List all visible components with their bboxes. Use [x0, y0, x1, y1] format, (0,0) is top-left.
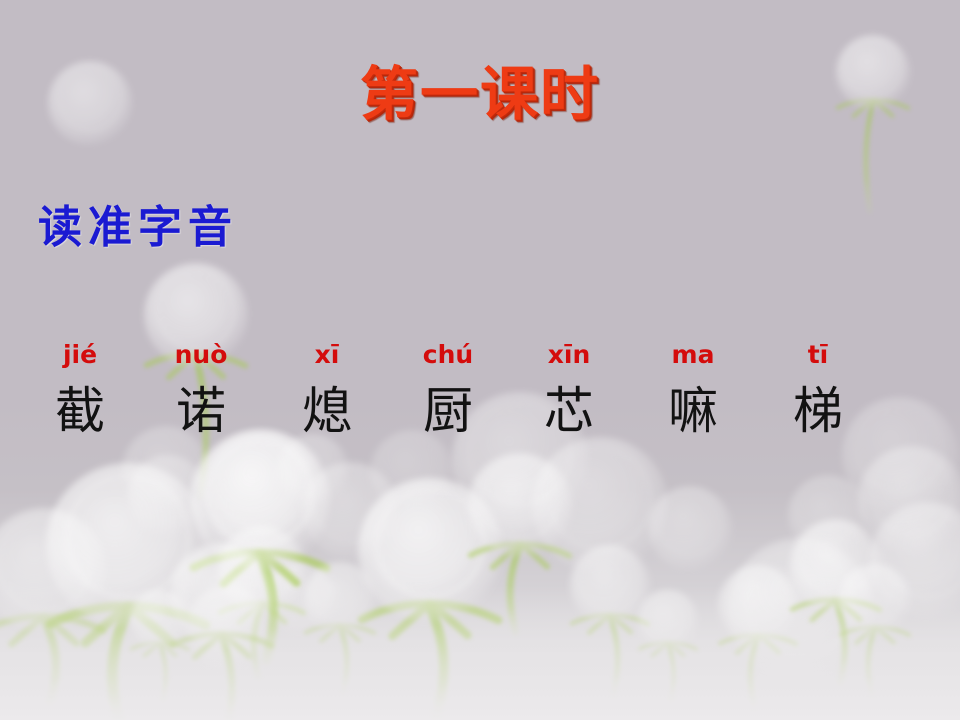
dandelion-stem	[792, 599, 879, 684]
title-block: 第一课时	[0, 62, 960, 127]
dandelion-puff	[858, 446, 960, 554]
puff-inner-ring	[138, 461, 197, 520]
puff-inner-ring	[67, 476, 188, 597]
puff-head	[186, 586, 270, 670]
dandelion-stem	[471, 543, 570, 632]
dandelion-puff	[304, 562, 376, 693]
puff-head	[870, 502, 960, 618]
hanzi-character: 截	[26, 384, 134, 438]
puff-inner-ring	[229, 533, 294, 598]
vocabulary-item: jié截	[26, 342, 134, 438]
dandelion-puff	[264, 562, 336, 634]
dandelion-puff	[186, 586, 270, 670]
puff-inner-ring	[482, 461, 559, 538]
puff-inner-ring	[273, 568, 326, 621]
puff-inner-ring	[659, 493, 721, 555]
puff-head	[728, 538, 872, 682]
dandelion-puff	[128, 455, 208, 535]
vocabulary-item: xī熄	[268, 342, 386, 438]
puff-inner-ring	[138, 595, 182, 639]
puff-head	[304, 562, 376, 634]
dandelion-stem	[841, 627, 909, 695]
puff-head	[190, 430, 330, 570]
vocabulary-item: ma嘛	[628, 342, 758, 438]
puff-inner-ring	[550, 448, 651, 549]
dandelion-stem	[572, 615, 648, 695]
pinyin-label: ma	[628, 342, 758, 368]
dandelion-puff	[190, 430, 330, 661]
puff-inner-ring	[798, 481, 857, 540]
vocabulary-row: jié截nuò诺xī熄chú厨xīn芯ma嘛tī梯	[26, 342, 906, 438]
presentation-slide: 第一课时 读准字音 jié截nuò诺xī熄chú厨xīn芯ma嘛tī梯	[0, 0, 960, 720]
puff-inner-ring	[313, 568, 366, 621]
dandelion-stem	[50, 606, 206, 720]
vocabulary-item: xīn芯	[510, 342, 628, 438]
dandelion-puff	[358, 478, 502, 718]
dandelion-puff	[46, 463, 210, 720]
puff-head	[638, 590, 698, 650]
dandelion-stem	[132, 642, 189, 702]
puff-inner-ring	[314, 470, 385, 541]
hanzi-character: 嘛	[628, 384, 758, 438]
puff-inner-ring	[848, 570, 901, 623]
puff-inner-ring	[218, 440, 307, 529]
dandelion-puff	[728, 538, 872, 682]
puff-inner-ring	[0, 518, 90, 610]
vocabulary-item: nuò诺	[134, 342, 268, 438]
dandelion-puff	[870, 502, 960, 618]
dandelion-puff	[218, 526, 306, 677]
dandelion-stem	[306, 625, 374, 693]
dandelion-puff	[570, 545, 650, 695]
puff-inner-ring	[133, 433, 198, 498]
page-title: 第一课时	[360, 62, 600, 127]
dandelion-stem	[173, 633, 272, 720]
puff-inner-ring	[885, 511, 960, 597]
section-heading: 读准字音	[38, 204, 238, 252]
dandelion-puff	[648, 486, 732, 570]
dandelion-puff	[718, 565, 798, 709]
bottom-fade-overlay	[0, 585, 960, 720]
puff-head	[790, 519, 882, 611]
dandelion-puff	[202, 430, 322, 550]
puff-inner-ring	[377, 490, 484, 597]
hanzi-character: 厨	[386, 384, 510, 438]
dandelion-puff	[130, 590, 190, 702]
puff-head	[46, 463, 210, 627]
puff-head	[839, 564, 911, 636]
puff-head	[277, 434, 349, 506]
puff-head	[570, 545, 650, 625]
dandelion-puff	[638, 590, 698, 702]
puff-head	[358, 478, 502, 622]
puff-head	[468, 453, 572, 557]
puff-head	[218, 526, 306, 614]
puff-head	[858, 446, 960, 554]
pinyin-label: xīn	[510, 342, 628, 368]
dandelion-stem	[0, 616, 103, 705]
puff-inner-ring	[872, 455, 952, 535]
dandelion-puff	[532, 437, 668, 573]
dandelion-puff	[790, 519, 882, 684]
puff-head	[128, 455, 208, 535]
puff-head	[202, 430, 322, 550]
dandelion-puff	[170, 543, 274, 720]
puff-inner-ring	[802, 526, 870, 594]
pinyin-label: xī	[268, 342, 386, 368]
dandelion-puff	[468, 453, 572, 633]
puff-inner-ring	[728, 571, 787, 630]
puff-inner-ring	[184, 551, 261, 628]
pinyin-label: tī	[758, 342, 878, 368]
dandelion-stem	[720, 635, 796, 709]
dandelion-stem	[640, 642, 697, 702]
puff-inner-ring	[286, 440, 339, 493]
puff-inner-ring	[646, 595, 690, 639]
puff-head	[264, 562, 336, 634]
pinyin-label: chú	[386, 342, 510, 368]
puff-head	[170, 543, 274, 647]
pinyin-label: nuò	[134, 342, 268, 368]
pinyin-label: jié	[26, 342, 134, 368]
hanzi-character: 芯	[510, 384, 628, 438]
puff-head	[648, 486, 732, 570]
dandelion-stem	[220, 603, 304, 678]
dandelion-puff	[839, 564, 911, 695]
puff-head	[788, 475, 868, 555]
puff-head	[0, 508, 106, 632]
hanzi-character: 熄	[268, 384, 386, 438]
vocabulary-item: chú厨	[386, 342, 510, 438]
puff-inner-ring	[580, 551, 639, 610]
puff-head	[370, 430, 454, 514]
dandelion-puff	[302, 462, 398, 558]
hanzi-character: 诺	[134, 384, 268, 438]
puff-head	[718, 565, 798, 645]
puff-head	[302, 462, 398, 558]
puff-inner-ring	[208, 441, 312, 545]
puff-inner-ring	[747, 550, 854, 657]
dandelion-puff	[370, 430, 454, 514]
dandelion-puff	[277, 434, 349, 506]
hanzi-character: 梯	[758, 384, 878, 438]
puff-head	[130, 590, 190, 650]
dandelion-puff	[0, 508, 106, 705]
dandelion-stem	[362, 603, 499, 717]
puff-head	[532, 437, 668, 573]
dandelion-puff	[788, 475, 868, 555]
puff-inner-ring	[197, 593, 259, 655]
vocabulary-item: tī梯	[758, 342, 878, 438]
puff-inner-ring	[158, 271, 235, 348]
dandelion-stem	[194, 552, 327, 661]
puff-inner-ring	[381, 437, 443, 499]
